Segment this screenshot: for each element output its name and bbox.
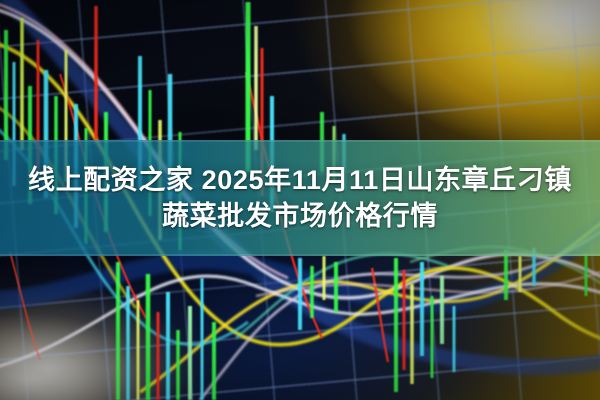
- caption-band-bottom-edge: [0, 254, 600, 256]
- caption-band-top-edge: [0, 140, 600, 142]
- caption-band: [0, 140, 600, 256]
- banner-image: 线上配资之家 2025年11月11日山东章丘刁镇 蔬菜批发市场价格行情: [0, 0, 600, 400]
